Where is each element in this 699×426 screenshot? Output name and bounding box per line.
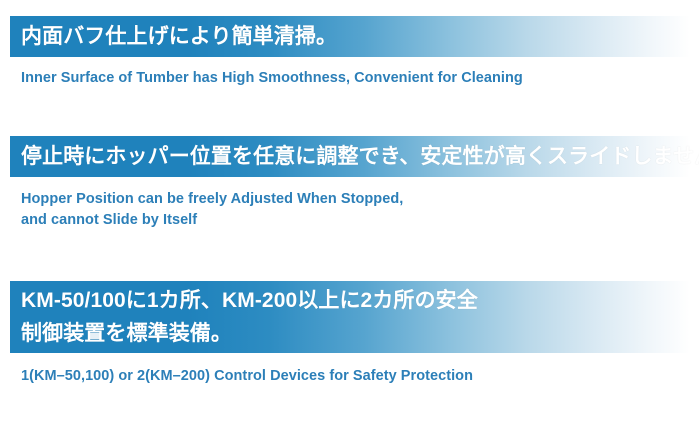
heading-line-1-1: 内面バフ仕上げにより簡単清掃。 xyxy=(10,22,690,52)
subtitle-line-2-2: and cannot Slide by Itself xyxy=(21,210,699,231)
heading-line-3-2: 制御装置を標準装備。 xyxy=(10,317,690,350)
heading-line-2-1: 停止時にホッパー位置を任意に調整でき、安定性が高くスライドしません。 xyxy=(10,142,690,172)
feature-block-2: 停止時にホッパー位置を任意に調整でき、安定性が高くスライドしません。 Hoppe… xyxy=(0,120,699,231)
heading-bar-1: 内面バフ仕上げにより簡単清掃。 xyxy=(10,16,690,57)
heading-line-3-1: KM-50/100に1カ所、KM-200以上に2カ所の安全 xyxy=(10,284,690,317)
heading-bar-3: KM-50/100に1カ所、KM-200以上に2カ所の安全 制御装置を標準装備。 xyxy=(10,281,690,353)
subtitle-line-3-1: 1(KM–50,100) or 2(KM–200) Control Device… xyxy=(21,366,699,387)
feature-list-page: 内面バフ仕上げにより簡単清掃。 Inner Surface of Tumber … xyxy=(0,0,699,426)
heading-bar-2: 停止時にホッパー位置を任意に調整でき、安定性が高くスライドしません。 xyxy=(10,136,690,177)
subtitle-group-3: 1(KM–50,100) or 2(KM–200) Control Device… xyxy=(0,366,699,387)
subtitle-group-1: Inner Surface of Tumber has High Smoothn… xyxy=(0,68,699,89)
subtitle-line-2-1: Hopper Position can be freely Adjusted W… xyxy=(21,189,699,210)
subtitle-line-1-1: Inner Surface of Tumber has High Smoothn… xyxy=(21,68,699,89)
feature-block-3: KM-50/100に1カ所、KM-200以上に2カ所の安全 制御装置を標準装備。… xyxy=(0,265,699,387)
subtitle-group-2: Hopper Position can be freely Adjusted W… xyxy=(0,189,699,231)
feature-block-1: 内面バフ仕上げにより簡単清掃。 Inner Surface of Tumber … xyxy=(0,0,699,89)
